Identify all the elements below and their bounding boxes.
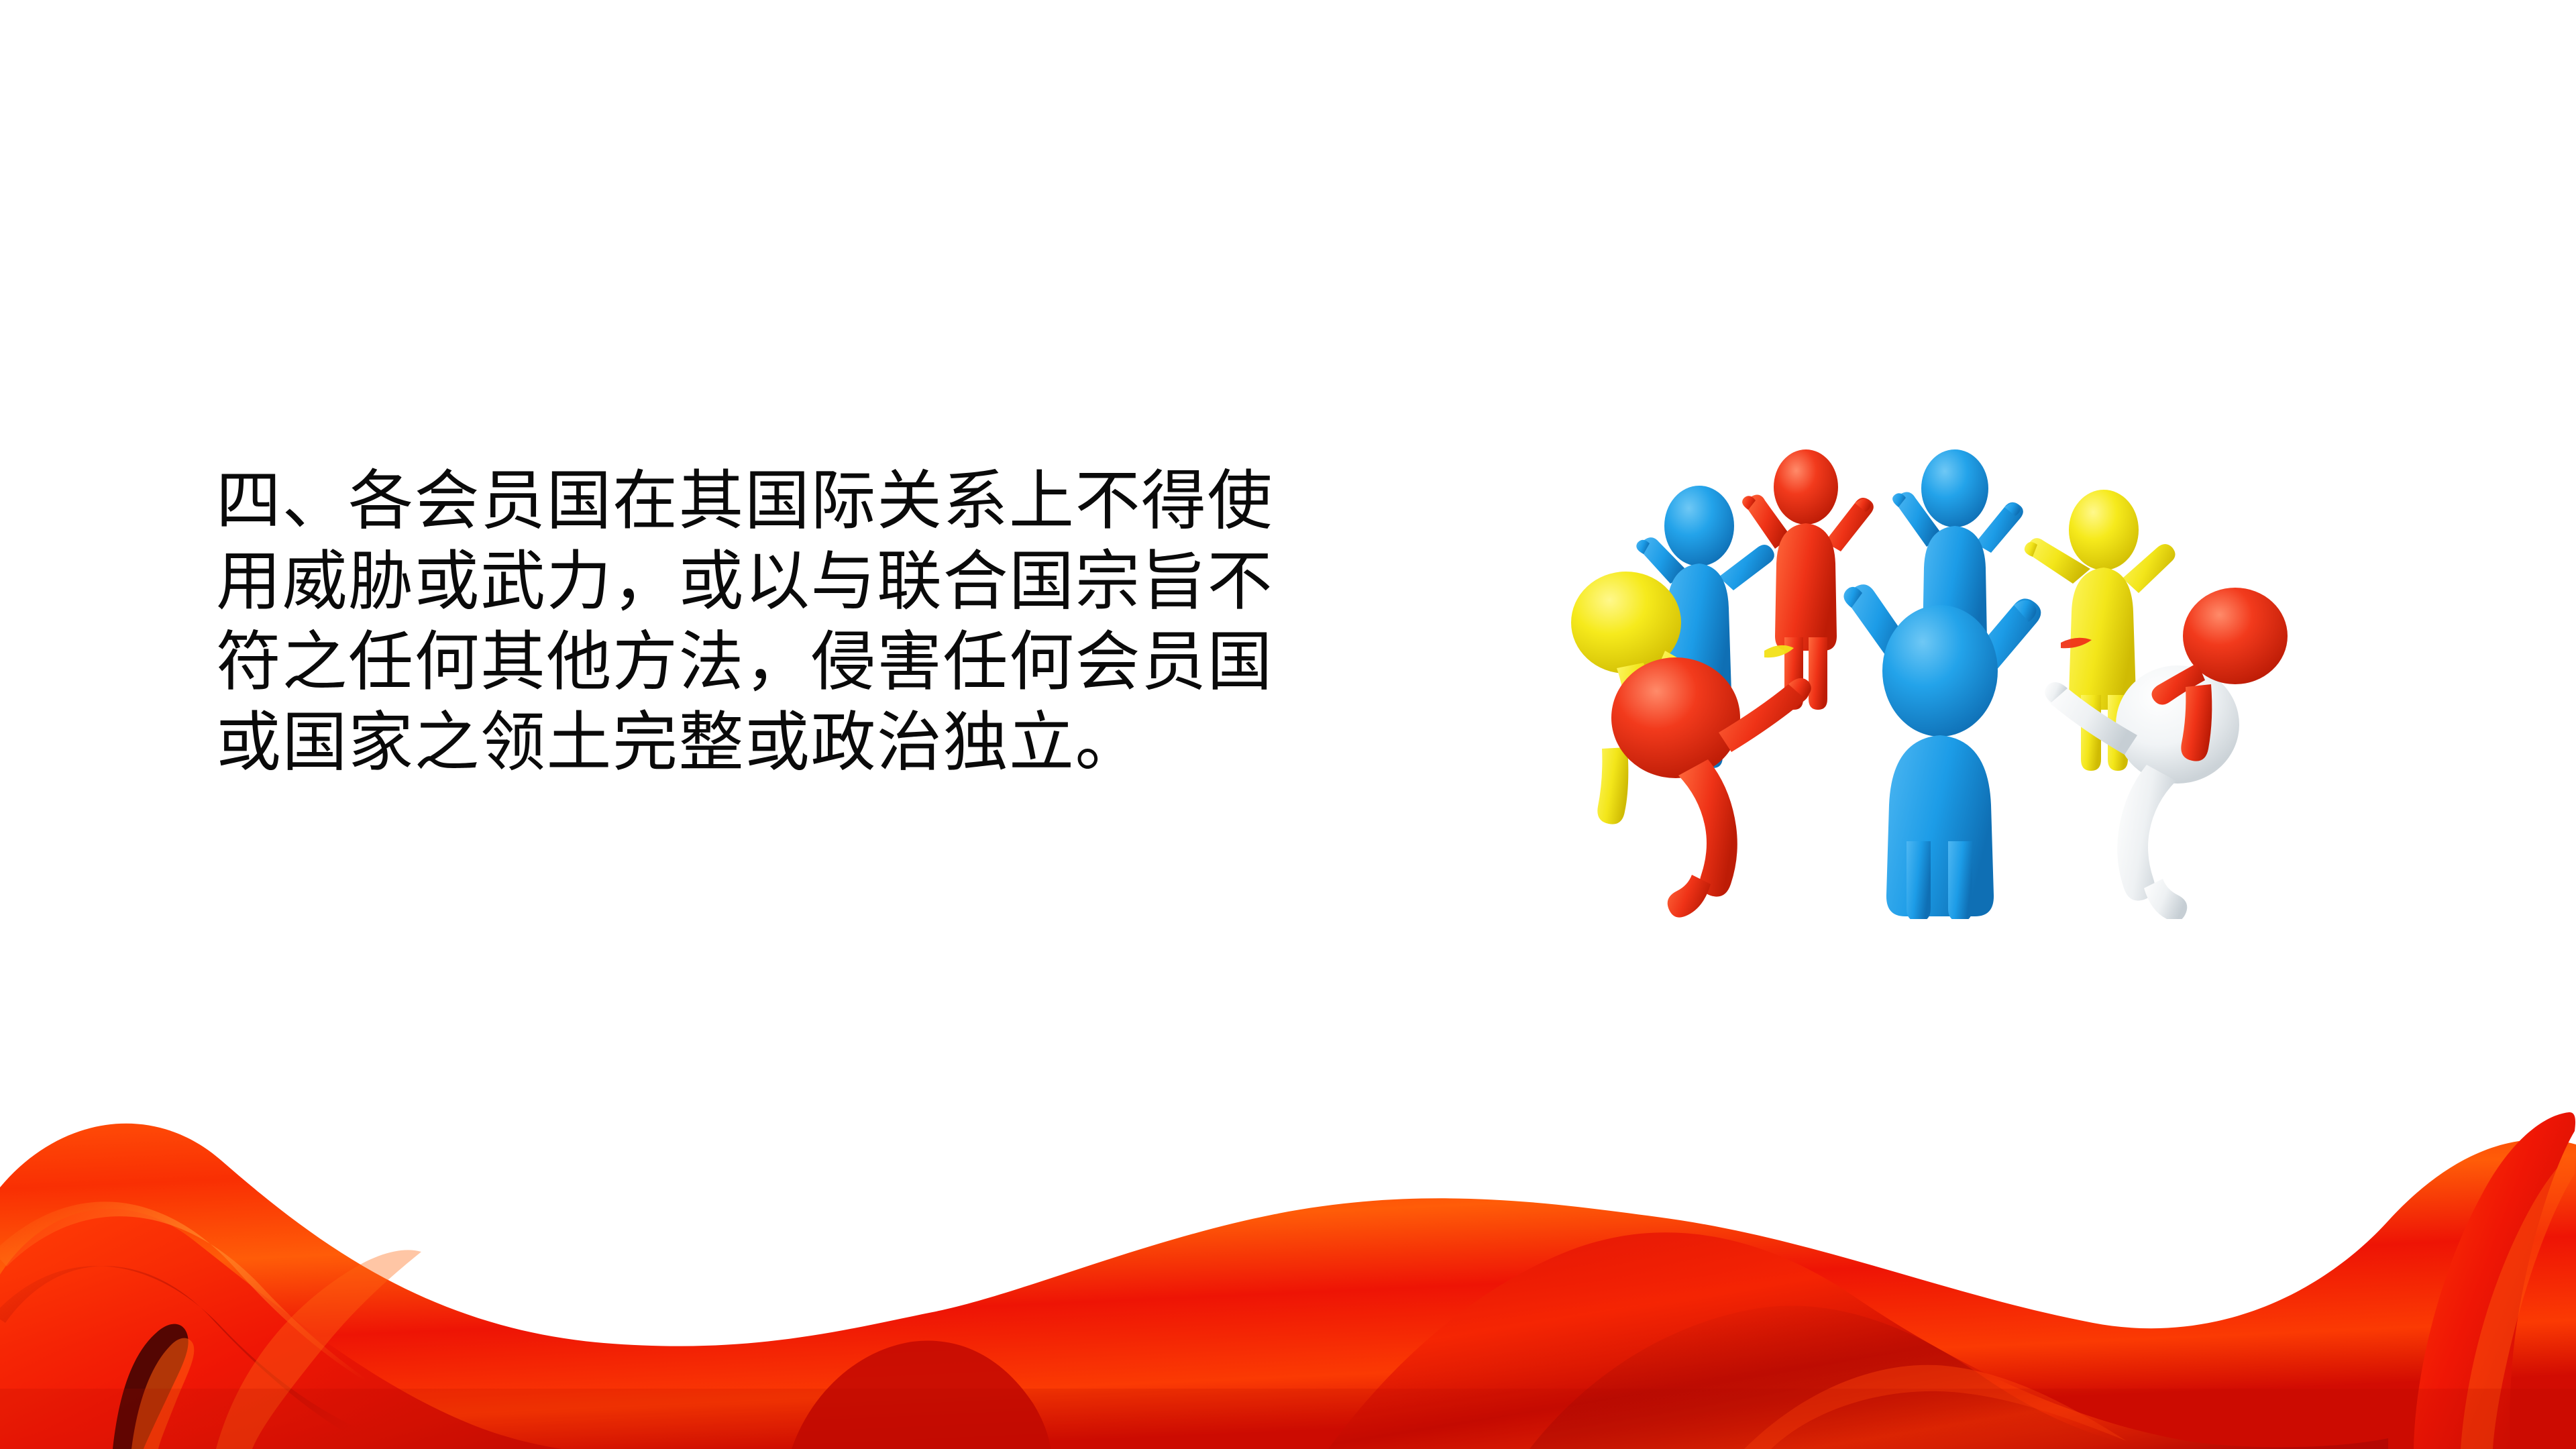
figure-red-left [1611,657,1811,918]
people-circle-illustration [1563,429,2294,919]
body-text-line-3: 符之任何其他方法，侵害任何会员国 [216,623,1437,703]
figure-red-back-left [1742,449,1874,710]
body-text-block: 四、各会员国在其国际关系上不得使 用威胁或武力，或以与联合国宗旨不 符之任何其他… [216,462,1437,784]
body-text-line-1: 四、各会员国在其国际关系上不得使 [216,462,1437,542]
body-text-line-4: 或国家之领土完整或政治独立。 [216,703,1437,784]
red-silk-ribbon [0,1073,2576,1449]
body-text-line-2: 用威胁或武力，或以与联合国宗旨不 [216,542,1437,623]
figure-blue-front-center [1843,584,2041,919]
slide-canvas: 四、各会员国在其国际关系上不得使 用威胁或武力，或以与联合国宗旨不 符之任何其他… [0,0,2576,1449]
